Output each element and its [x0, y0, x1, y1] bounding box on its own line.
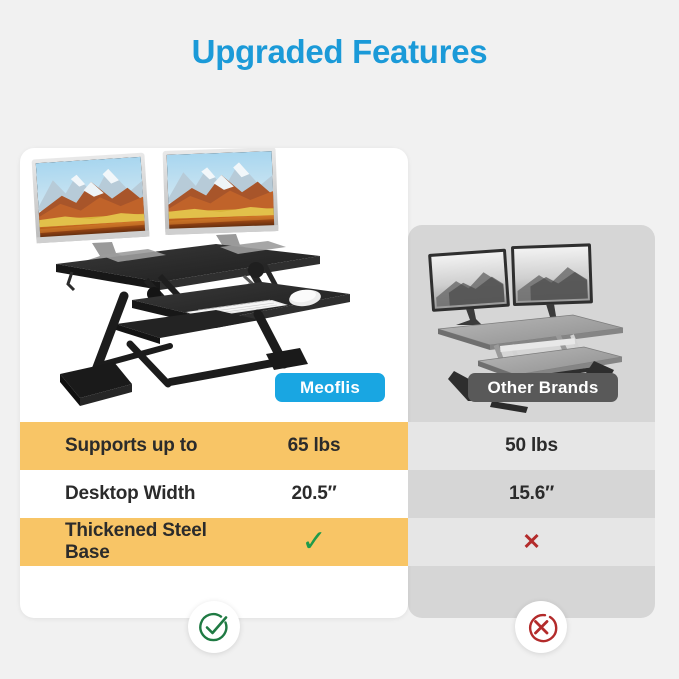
x-circle-icon: [523, 609, 559, 645]
other-brands-status-badge: [515, 601, 567, 653]
other-brands-badge: Other Brands: [468, 373, 618, 402]
table-row: 50 lbs: [408, 422, 655, 470]
row-brand-value: 65 lbs: [250, 435, 408, 457]
table-row: Desktop Width 20.5″: [20, 470, 408, 518]
brand-badge-label: Meoflis: [300, 378, 360, 398]
other-brands-badge-label: Other Brands: [487, 378, 598, 398]
check-circle-icon: [196, 609, 232, 645]
table-row: Supports up to 65 lbs: [20, 422, 408, 470]
row-label: Supports up to: [20, 435, 250, 457]
table-row: ✕: [408, 518, 655, 566]
brand-comparison-rows: Supports up to 65 lbs Desktop Width 20.5…: [20, 422, 408, 566]
check-icon: ✓: [250, 527, 408, 557]
table-row: Thickened Steel Base ✓: [20, 518, 408, 566]
row-other-value: 50 lbs: [408, 435, 655, 457]
row-other-value: 15.6″: [408, 483, 655, 505]
infographic-root: Upgraded Features: [0, 0, 679, 679]
brand-status-badge: [188, 601, 240, 653]
row-label: Desktop Width: [20, 483, 250, 505]
other-brands-comparison-rows: 50 lbs 15.6″ ✕: [408, 422, 655, 566]
page-title: Upgraded Features: [0, 33, 679, 71]
row-label: Thickened Steel Base: [20, 520, 250, 564]
table-row: 15.6″: [408, 470, 655, 518]
brand-badge: Meoflis: [275, 373, 385, 402]
cross-icon: ✕: [408, 529, 655, 555]
row-brand-value: 20.5″: [250, 483, 408, 505]
